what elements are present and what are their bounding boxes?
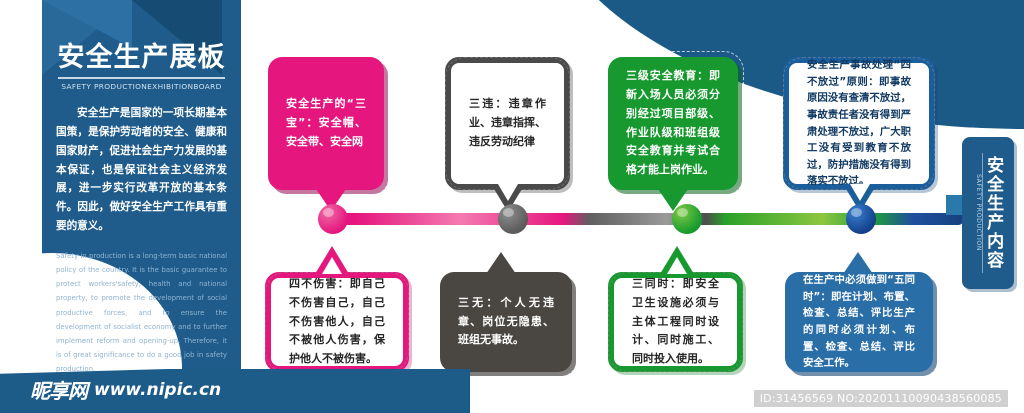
bubble-three-treasures[interactable]: 安全生产的“三宝”：安全帽、安全带、安全网 [268,57,384,190]
bubble-three-violations[interactable]: 三违：违章作业、违章指挥、违反劳动纪律 [445,57,570,190]
timeline-node-gray[interactable] [498,204,528,234]
right-panel-connector [946,195,962,215]
bubble-tail [315,246,349,274]
asset-id-label: ID:31456569 NO:20201110090438560085 [754,390,1008,407]
bubble-four-no-pass[interactable]: 安全生产事故处理“四不放过”原则：即事故原因没有查清不放过，事故责任者没有得到严… [783,57,935,190]
bubble-text: 三级安全教育：即新入场人员必须分别经过项目部级、作业队级和班组级安全教育并考试合… [608,67,738,180]
decorative-swoosh-dark [532,0,1024,174]
bubble-text: 四不伤害：即自己不伤害自己，自己不伤害他人，自己不被他人伤害，保护他人不被伤害。 [271,275,403,370]
timeline-node-green[interactable] [672,204,702,234]
bubble-text: 安全生产的“三宝”：安全帽、安全带、安全网 [268,95,384,152]
page-subtitle: SAFETY PRODUCTIONEXHIBITIONBOARD [56,82,227,91]
timeline-node-pink[interactable] [318,204,348,234]
bubble-tail [486,252,516,274]
bubble-text: 在生产中必须做到“五同时”：即在计划、布置、检查、总结、评比生产的同时必须计划、… [785,272,933,372]
watermark: 昵享网 www.nipic.cn [0,369,470,413]
bubble-tail [843,252,873,274]
watermark-brand: 昵享网 [30,375,87,404]
bubble-four-no-harm[interactable]: 四不伤害：即自己不伤害自己，自己不伤害他人，自己不被他人伤害，保护他人不被伤害。 [265,272,409,372]
page-title: 安全生产展板 [56,44,227,71]
bubble-text: 三同时：即安全卫生设施必须与主体工程同时设计、同时施工、同时投入使用。 [614,275,737,370]
intro-paragraph-en: Safety in production is a long-term basi… [56,249,227,376]
bubble-five-simultaneous[interactable]: 在生产中必须做到“五同时”：即在计划、布置、检查、总结、评比生产的同时必须计划、… [785,272,933,372]
intro-paragraph-cn: 安全生产是国家的一项长期基本国策，是保护劳动者的安全、健康和国家财产，促进社会生… [56,104,227,236]
timeline-node-blue[interactable] [846,204,876,234]
right-panel-title: 安全生产内容 [984,156,1001,270]
poster-canvas: 安全生产展板 SAFETY PRODUCTIONEXHIBITIONBOARD … [0,0,1024,413]
bubble-text: 安全生产事故处理“四不放过”原则：即事故原因没有查清不放过，事故责任者没有得到严… [789,57,929,190]
bubble-three-none[interactable]: 三无：个人无违章、岗位无隐患、班组无事故。 [440,272,572,372]
title-divider [58,77,225,79]
watermark-url: www.nipic.cn [94,380,221,400]
bubble-tail [660,246,694,274]
bubble-three-level-education[interactable]: 三级安全教育：即新入场人员必须分别经过项目部级、作业队级和班组级安全教育并考试合… [608,57,738,190]
right-panel-subtitle: SAFETY PRODUCTION [975,174,981,251]
left-info-panel: 安全生产展板 SAFETY PRODUCTIONEXHIBITIONBOARD … [42,0,241,413]
bubble-text: 三违：违章作业、违章指挥、违反劳动纪律 [451,95,564,152]
bubble-three-simultaneous[interactable]: 三同时：即安全卫生设施必须与主体工程同时设计、同时施工、同时投入使用。 [608,272,743,372]
right-section-panel: SAFETY PRODUCTION 安全生产内容 [962,137,1014,289]
bubble-text: 三无：个人无违章、岗位无隐患、班组无事故。 [440,294,572,351]
